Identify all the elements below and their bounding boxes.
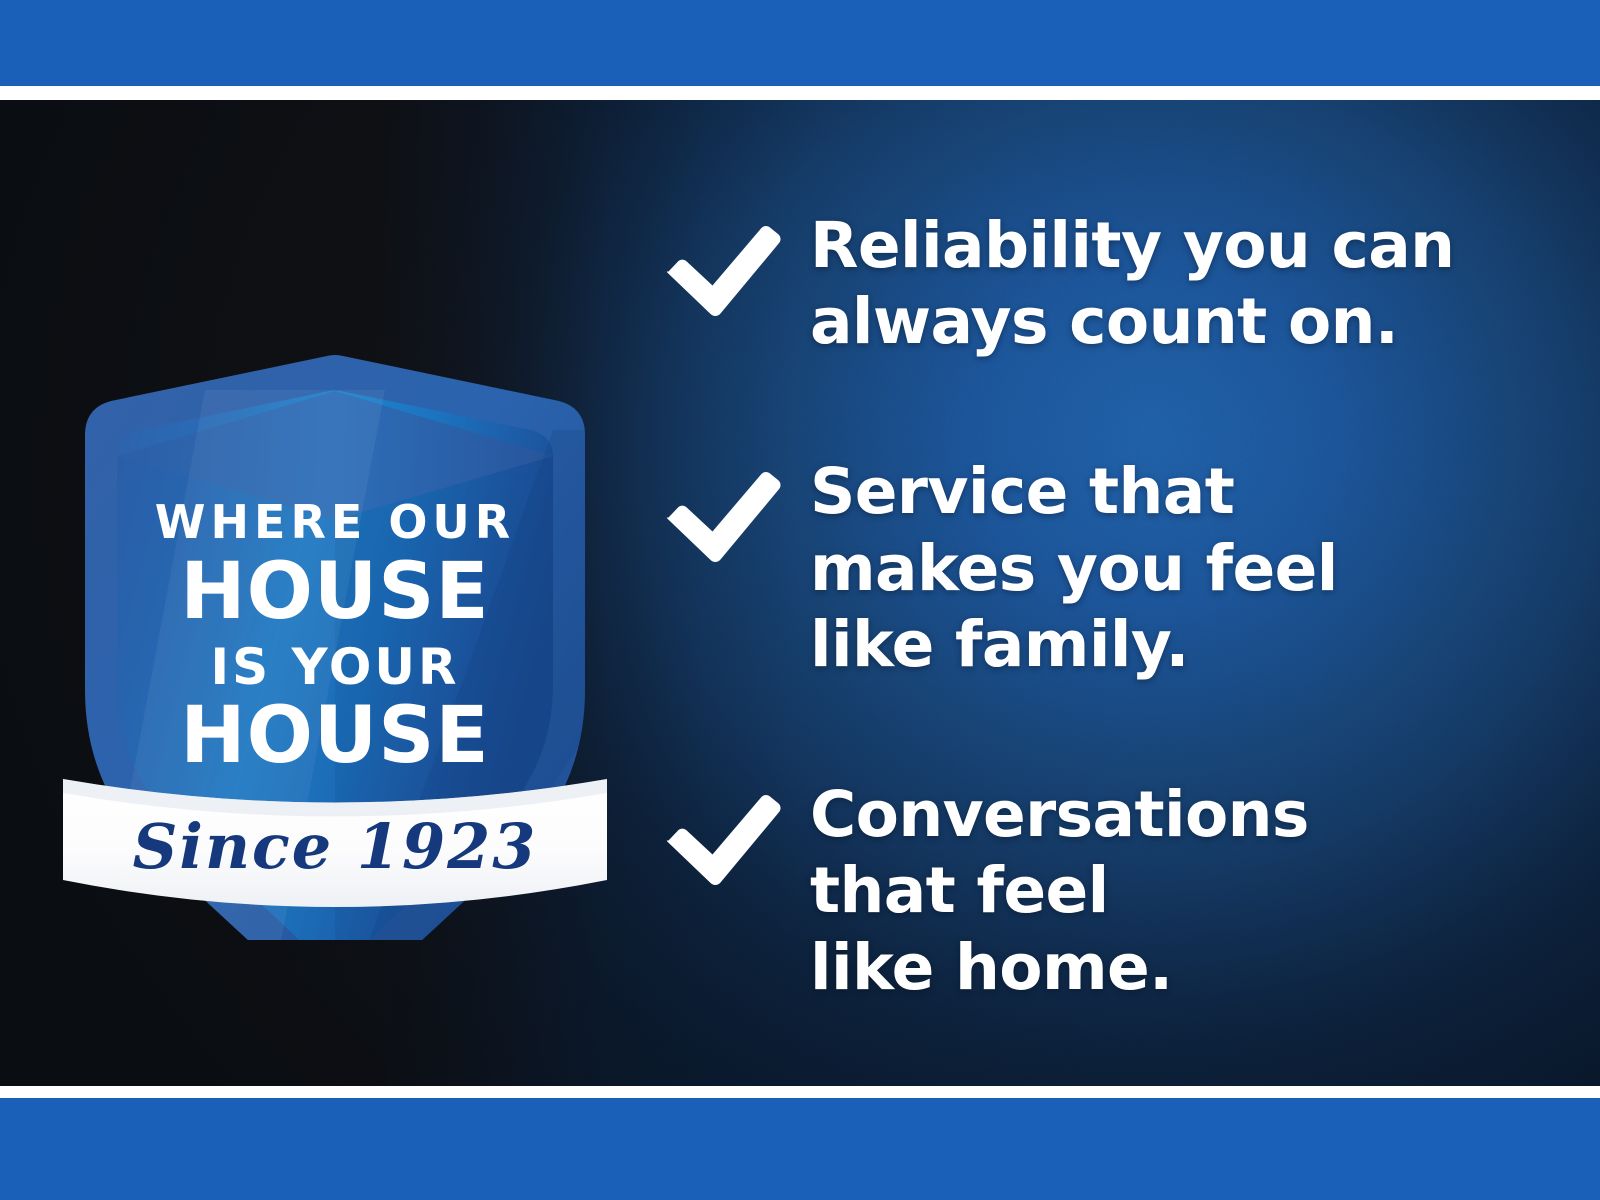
logo-line-1: WHERE OUR — [155, 495, 515, 549]
benefit-text: Service that makes you feel like family. — [810, 454, 1510, 683]
logo-line-4: HOUSE — [180, 691, 489, 781]
top-white-divider — [0, 86, 1600, 100]
benefit-line: always count on. — [810, 284, 1510, 360]
benefit-item: Reliability you can always count on. — [660, 208, 1510, 360]
bottom-brand-bar — [0, 1098, 1600, 1200]
checkmark-icon — [660, 208, 810, 326]
checkmark-icon — [660, 777, 810, 895]
logo-line-3: IS YOUR — [210, 638, 459, 696]
main-stage: WHERE OUR HOUSE IS YOUR HOUSE Since 1923 — [0, 100, 1600, 1086]
benefit-line: Conversations — [810, 777, 1510, 853]
banner-text: Since 1923 — [133, 810, 538, 883]
top-brand-bar — [0, 0, 1600, 86]
benefit-line: makes you feel — [810, 531, 1510, 607]
benefit-line: Reliability you can — [810, 208, 1510, 284]
benefit-line: like family. — [810, 607, 1510, 683]
benefit-line: that feel — [810, 853, 1510, 929]
logo-line-2: HOUSE — [180, 547, 489, 637]
benefit-item: Conversations that feel like home. — [660, 777, 1510, 1006]
benefit-line: Service that — [810, 454, 1510, 530]
bottom-white-divider — [0, 1086, 1600, 1098]
promo-graphic: WHERE OUR HOUSE IS YOUR HOUSE Since 1923 — [0, 0, 1600, 1200]
benefit-line: like home. — [810, 930, 1510, 1006]
shield-logo: WHERE OUR HOUSE IS YOUR HOUSE Since 1923 — [55, 260, 615, 940]
benefits-list: Reliability you can always count on. Ser… — [660, 208, 1510, 1006]
checkmark-icon — [660, 454, 810, 572]
benefit-text: Conversations that feel like home. — [810, 777, 1510, 1006]
benefit-text: Reliability you can always count on. — [810, 208, 1510, 360]
benefit-item: Service that makes you feel like family. — [660, 454, 1510, 683]
